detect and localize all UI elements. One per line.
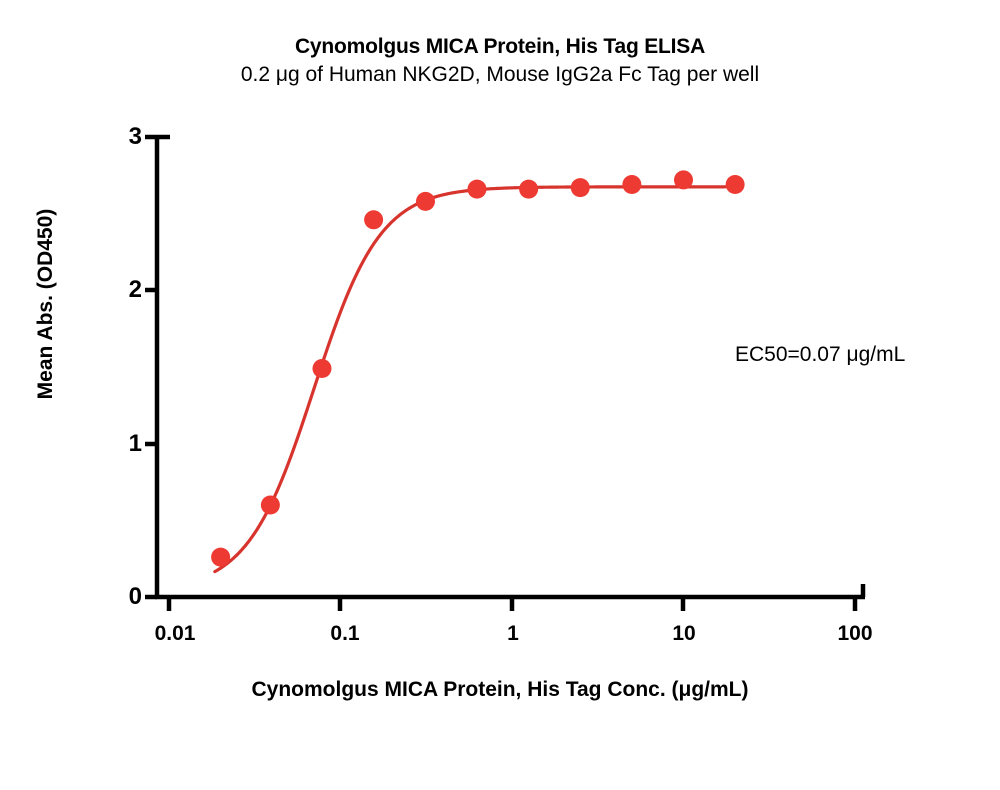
- data-point: [261, 496, 280, 515]
- elisa-chart-figure: Cynomolgus MICA Protein, His Tag ELISA 0…: [0, 0, 1000, 790]
- data-point: [519, 180, 538, 199]
- axes: [155, 135, 865, 599]
- fit-curve: [215, 187, 741, 572]
- data-point-markers: [211, 170, 745, 566]
- data-point: [726, 175, 745, 194]
- data-point: [467, 180, 486, 199]
- plot-area: [0, 0, 1000, 790]
- data-point: [312, 359, 331, 378]
- data-point: [211, 548, 230, 567]
- data-point: [674, 170, 693, 189]
- data-point: [416, 192, 435, 211]
- data-point: [571, 178, 590, 197]
- data-point: [364, 210, 383, 229]
- data-point: [622, 175, 641, 194]
